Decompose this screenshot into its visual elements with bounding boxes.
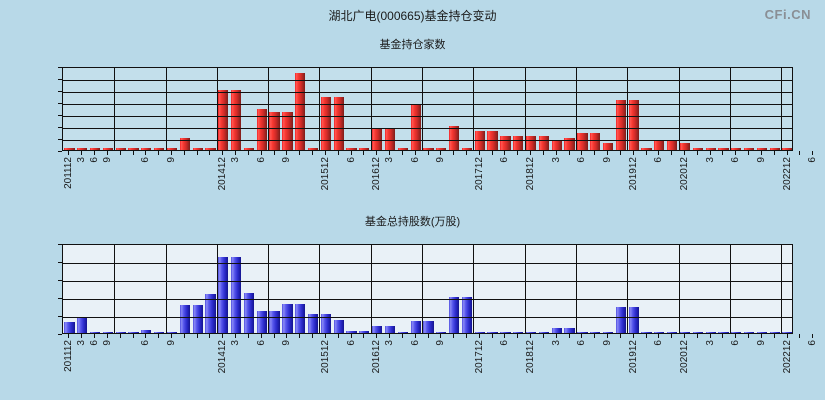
x-axis-tick-mark xyxy=(158,334,159,338)
x-axis-tick-label: 6 xyxy=(730,340,741,346)
x-axis-tick-label: 6 xyxy=(730,157,741,163)
x-axis-tick-mark xyxy=(261,334,262,338)
x-axis-tick-mark xyxy=(466,151,467,155)
bar xyxy=(231,90,241,150)
x-axis-tick-label: 201812 xyxy=(525,340,536,373)
x-axis-tick-label: 9 xyxy=(102,157,113,163)
x-axis-tick-label: 9 xyxy=(166,340,177,346)
bar xyxy=(77,318,87,333)
x-axis-tick-label: 3 xyxy=(384,157,395,163)
x-axis-tick-mark xyxy=(517,151,518,155)
x-axis-tick-mark xyxy=(197,334,198,338)
x-axis-tick-mark xyxy=(697,151,698,155)
bar xyxy=(770,332,780,333)
x-axis-tick-mark xyxy=(479,334,480,338)
x-axis-tick-mark xyxy=(440,151,441,155)
x-axis-tick-mark xyxy=(581,334,582,338)
x-axis-tick-mark xyxy=(812,334,813,338)
gridline-vertical xyxy=(627,68,628,150)
x-axis-tick-mark xyxy=(197,151,198,155)
x-axis-tick-mark xyxy=(543,151,544,155)
x-axis-tick-label: 6 xyxy=(807,157,818,163)
x-axis-tick-label: 6 xyxy=(410,340,421,346)
bar xyxy=(269,112,279,150)
bar xyxy=(757,148,767,150)
bar xyxy=(167,332,177,333)
x-axis-tick-mark xyxy=(184,334,185,338)
bar xyxy=(526,332,536,333)
x-axis-tick-mark xyxy=(402,334,403,338)
plot-area-holders xyxy=(62,67,793,151)
x-axis-tick-mark xyxy=(569,151,570,155)
bar xyxy=(706,332,716,333)
x-axis-tick-mark xyxy=(261,151,262,155)
bar xyxy=(731,332,741,333)
x-axis-tick-label: 3 xyxy=(230,340,241,346)
y-axis-tick-mark xyxy=(58,151,62,152)
x-axis-tick-mark xyxy=(671,151,672,155)
x-axis-tick-mark xyxy=(761,334,762,338)
x-axis-tick-mark xyxy=(453,334,454,338)
bar xyxy=(90,332,100,333)
bar xyxy=(64,148,74,150)
bar xyxy=(128,148,138,150)
bar xyxy=(706,148,716,150)
x-axis-tick-label: 3 xyxy=(76,340,87,346)
bar xyxy=(641,332,651,333)
gridline-vertical xyxy=(319,245,320,333)
x-axis-tick-mark xyxy=(171,334,172,338)
gridline-vertical xyxy=(473,68,474,150)
x-axis-tick-label: 6 xyxy=(499,340,510,346)
x-axis-tick-mark xyxy=(120,151,121,155)
bar xyxy=(218,90,228,150)
bar xyxy=(616,100,626,150)
x-axis-tick-mark xyxy=(453,151,454,155)
gridline-vertical xyxy=(525,68,526,150)
x-axis-tick-mark xyxy=(517,334,518,338)
x-axis-tick-mark xyxy=(171,151,172,155)
x-axis-tick-mark xyxy=(812,151,813,155)
x-axis-tick-mark xyxy=(594,151,595,155)
gridline-horizontal xyxy=(63,299,792,300)
x-axis-tick-mark xyxy=(376,334,377,338)
x-axis-tick-mark xyxy=(492,334,493,338)
gridline-vertical xyxy=(422,68,423,150)
x-axis-tick-mark xyxy=(81,334,82,338)
bar xyxy=(282,112,292,150)
gridline-vertical xyxy=(576,245,577,333)
x-axis-tick-label: 201612 xyxy=(371,157,382,190)
gridline-vertical xyxy=(371,68,372,150)
x-axis-tick-mark xyxy=(620,151,621,155)
bar xyxy=(411,321,421,333)
gridline-vertical xyxy=(268,68,269,150)
bar xyxy=(744,332,754,333)
bar xyxy=(718,332,728,333)
bar xyxy=(680,332,690,333)
bar xyxy=(257,311,267,333)
x-axis-tick-mark xyxy=(158,151,159,155)
page-title: 湖北广电(000665)基金持仓变动 xyxy=(0,7,825,24)
bar xyxy=(282,304,292,333)
gridline-vertical xyxy=(217,245,218,333)
bar xyxy=(782,148,792,150)
x-axis-tick-mark xyxy=(299,151,300,155)
bar xyxy=(64,322,74,333)
x-axis-tick-label: 3 xyxy=(551,157,562,163)
bar xyxy=(193,148,203,150)
bar xyxy=(205,148,215,150)
x-axis-tick-label: 6 xyxy=(653,340,664,346)
x-axis-tick-mark xyxy=(607,151,608,155)
bar xyxy=(500,332,510,333)
bar xyxy=(667,332,677,333)
bar xyxy=(244,148,254,150)
gridline-vertical xyxy=(166,245,167,333)
x-axis-tick-label: 3 xyxy=(551,340,562,346)
x-axis-tick-mark xyxy=(504,151,505,155)
x-axis-tick-label: 3 xyxy=(384,340,395,346)
gridline-vertical xyxy=(114,245,115,333)
x-axis-tick-mark xyxy=(312,334,313,338)
x-axis-tick-mark xyxy=(145,334,146,338)
x-axis-tick-mark xyxy=(710,151,711,155)
x-axis-tick-label: 9 xyxy=(602,157,613,163)
bar xyxy=(398,148,408,150)
bar xyxy=(513,332,523,333)
x-axis-tick-mark xyxy=(376,151,377,155)
x-axis-tick-mark xyxy=(787,334,788,338)
bar xyxy=(475,332,485,333)
x-axis-tick-mark xyxy=(671,334,672,338)
x-axis-tick-mark xyxy=(120,334,121,338)
x-axis-tick-label: 202212 xyxy=(782,340,793,373)
x-axis-tick-mark xyxy=(761,151,762,155)
bar xyxy=(449,126,459,150)
watermark-label: CFi.CN xyxy=(765,7,811,22)
x-axis-tick-mark xyxy=(248,334,249,338)
x-axis-tick-label: 9 xyxy=(281,157,292,163)
x-axis-tick-mark xyxy=(351,334,352,338)
bar xyxy=(346,148,356,150)
bar xyxy=(231,257,241,333)
bar xyxy=(269,311,279,333)
gridline-horizontal xyxy=(63,128,792,129)
bar xyxy=(577,332,587,333)
gridline-vertical xyxy=(166,68,167,150)
x-axis-tick-label: 6 xyxy=(346,157,357,163)
x-axis-tick-label: 201712 xyxy=(474,157,485,190)
x-axis-tick-label: 6 xyxy=(576,340,587,346)
x-axis-tick-mark xyxy=(68,334,69,338)
chart-page: 湖北广电(000665)基金持仓变动 CFi.CN 基金持仓家数 0510152… xyxy=(0,0,825,400)
x-axis-tick-mark xyxy=(658,151,659,155)
x-axis-tick-label: 201412 xyxy=(217,157,228,190)
bar xyxy=(462,148,472,150)
x-axis-tick-label: 9 xyxy=(756,340,767,346)
x-axis-tick-mark xyxy=(556,334,557,338)
bar xyxy=(218,257,228,333)
x-axis-tick-mark xyxy=(68,151,69,155)
bar xyxy=(552,140,562,150)
chart-title-shares: 基金总持股数(万股) xyxy=(0,213,825,229)
bar xyxy=(629,100,639,150)
bar xyxy=(308,148,318,150)
x-axis-tick-label: 201612 xyxy=(371,340,382,373)
x-axis-tick-mark xyxy=(415,334,416,338)
x-axis-tick-label: 3 xyxy=(705,340,716,346)
x-axis-tick-mark xyxy=(479,151,480,155)
gridline-vertical xyxy=(730,68,731,150)
x-axis-tick-label: 201112 xyxy=(63,157,74,189)
gridline-vertical xyxy=(781,245,782,333)
bar xyxy=(564,328,574,333)
x-axis-tick-mark xyxy=(325,334,326,338)
plot-area-shares xyxy=(62,244,793,334)
x-axis-tick-mark xyxy=(235,334,236,338)
gridline-horizontal xyxy=(63,92,792,93)
x-axis-tick-mark xyxy=(274,151,275,155)
gridline-vertical xyxy=(114,68,115,150)
x-axis-tick-mark xyxy=(94,334,95,338)
x-axis-tick-mark xyxy=(145,151,146,155)
x-axis-tick-mark xyxy=(415,151,416,155)
x-axis-tick-mark xyxy=(684,151,685,155)
bar xyxy=(346,331,356,333)
x-axis-tick-mark xyxy=(389,151,390,155)
bar xyxy=(372,326,382,333)
gridline-horizontal xyxy=(63,104,792,105)
x-axis-tick-mark xyxy=(466,334,467,338)
x-axis-tick-mark xyxy=(748,334,749,338)
gridline-vertical xyxy=(473,245,474,333)
bar xyxy=(321,97,331,150)
x-axis-tick-mark xyxy=(607,334,608,338)
x-axis-tick-label: 201512 xyxy=(320,157,331,190)
gridline-vertical xyxy=(319,68,320,150)
x-axis-tick-label: 201712 xyxy=(474,340,485,373)
bar xyxy=(141,330,151,333)
x-axis-tick-mark xyxy=(594,334,595,338)
x-axis-tick-mark xyxy=(363,151,364,155)
x-axis-tick-mark xyxy=(440,334,441,338)
bar xyxy=(590,133,600,150)
gridline-horizontal xyxy=(63,263,792,264)
x-axis-tick-mark xyxy=(620,334,621,338)
x-axis-tick-mark xyxy=(646,151,647,155)
bar xyxy=(436,148,446,150)
bar xyxy=(436,332,446,333)
x-axis-tick-mark xyxy=(184,151,185,155)
x-axis-tick-mark xyxy=(787,151,788,155)
gridline-horizontal xyxy=(63,140,792,141)
gridline-vertical xyxy=(525,245,526,333)
bar xyxy=(782,332,792,333)
x-axis-tick-mark xyxy=(338,151,339,155)
x-axis-tick-label: 3 xyxy=(230,157,241,163)
bar xyxy=(103,148,113,150)
x-axis-tick-mark xyxy=(133,151,134,155)
x-axis-tick-label: 9 xyxy=(602,340,613,346)
bar xyxy=(539,332,549,333)
x-axis-tick-label: 6 xyxy=(89,340,100,346)
x-axis-tick-label: 6 xyxy=(499,157,510,163)
x-axis-tick-mark xyxy=(697,334,698,338)
bar xyxy=(718,148,728,150)
gridline-horizontal xyxy=(63,281,792,282)
bar xyxy=(77,148,87,150)
bar xyxy=(334,97,344,150)
x-axis-tick-mark xyxy=(133,334,134,338)
bar xyxy=(141,148,151,150)
bar xyxy=(616,307,626,333)
gridline-vertical xyxy=(679,245,680,333)
x-axis-tick-mark xyxy=(107,151,108,155)
x-axis-tick-mark xyxy=(222,334,223,338)
bar xyxy=(757,332,767,333)
x-axis-tick-label: 6 xyxy=(140,157,151,163)
x-axis-tick-label: 202012 xyxy=(679,157,690,190)
bar xyxy=(398,332,408,333)
bar xyxy=(423,321,433,333)
x-axis-tick-mark xyxy=(658,334,659,338)
x-axis-tick-label: 9 xyxy=(435,157,446,163)
x-axis-tick-label: 6 xyxy=(410,157,421,163)
y-axis-tick-mark xyxy=(58,334,62,335)
bar xyxy=(590,332,600,333)
bar xyxy=(116,148,126,150)
bar xyxy=(487,332,497,333)
x-axis-tick-mark xyxy=(543,334,544,338)
x-axis-tick-label: 6 xyxy=(346,340,357,346)
x-axis-tick-mark xyxy=(286,151,287,155)
gridline-horizontal xyxy=(63,317,792,318)
bar xyxy=(334,320,344,333)
x-axis-tick-mark xyxy=(633,334,634,338)
x-axis-tick-mark xyxy=(735,151,736,155)
x-axis-tick-label: 202212 xyxy=(782,157,793,190)
x-axis-tick-label: 9 xyxy=(435,340,446,346)
x-axis-tick-mark xyxy=(325,151,326,155)
bar xyxy=(116,332,126,333)
bar xyxy=(154,332,164,333)
chart-panel-holders: 基金持仓家数 05101520253035 201112369692014123… xyxy=(0,36,825,196)
x-axis-tick-mark xyxy=(774,151,775,155)
x-axis-tick-mark xyxy=(209,151,210,155)
gridline-vertical xyxy=(268,245,269,333)
x-axis-tick-label: 6 xyxy=(140,340,151,346)
x-axis-tick-mark xyxy=(556,151,557,155)
bar xyxy=(462,297,472,333)
bar xyxy=(90,148,100,150)
bar xyxy=(513,136,523,150)
bar xyxy=(526,136,536,150)
x-axis-tick-mark xyxy=(633,151,634,155)
x-axis-tick-mark xyxy=(286,334,287,338)
x-axis-tick-mark xyxy=(222,151,223,155)
bar xyxy=(693,332,703,333)
bar xyxy=(500,136,510,150)
x-axis-tick-mark xyxy=(581,151,582,155)
x-axis-tick-label: 6 xyxy=(89,157,100,163)
bar xyxy=(539,136,549,150)
x-axis-tick-mark xyxy=(504,334,505,338)
x-axis-tick-label: 6 xyxy=(576,157,587,163)
x-axis-tick-mark xyxy=(351,151,352,155)
gridline-vertical xyxy=(422,245,423,333)
x-axis-tick-label: 9 xyxy=(281,340,292,346)
x-axis-tick-label: 6 xyxy=(256,340,267,346)
x-axis-tick-label: 6 xyxy=(256,157,267,163)
bar xyxy=(193,305,203,333)
bar xyxy=(744,148,754,150)
chart-title-holders: 基金持仓家数 xyxy=(0,36,825,52)
bar xyxy=(449,297,459,333)
bar xyxy=(629,307,639,333)
x-axis-tick-mark xyxy=(684,334,685,338)
bar xyxy=(167,148,177,150)
x-axis-tick-label: 9 xyxy=(166,157,177,163)
x-axis-tick-label: 3 xyxy=(76,157,87,163)
bar xyxy=(552,328,562,333)
x-axis-tick-mark xyxy=(107,334,108,338)
x-axis-tick-mark xyxy=(209,334,210,338)
x-axis-tick-label: 201812 xyxy=(525,157,536,190)
bar xyxy=(654,140,664,150)
x-axis-tick-mark xyxy=(248,151,249,155)
bar xyxy=(423,148,433,150)
x-axis-tick-label: 6 xyxy=(653,157,664,163)
x-axis-tick-mark xyxy=(530,151,531,155)
x-axis-tick-mark xyxy=(428,151,429,155)
gridline-horizontal xyxy=(63,116,792,117)
gridline-vertical xyxy=(679,68,680,150)
x-axis-tick-mark xyxy=(722,334,723,338)
x-axis-tick-label: 201912 xyxy=(628,340,639,373)
x-axis-tick-label: 201912 xyxy=(628,157,639,190)
gridline-vertical xyxy=(217,68,218,150)
bar xyxy=(667,140,677,150)
x-axis-tick-mark xyxy=(774,334,775,338)
x-axis-tick-mark xyxy=(428,334,429,338)
bar xyxy=(603,143,613,150)
gridline-horizontal xyxy=(63,80,792,81)
x-axis-tick-mark xyxy=(646,334,647,338)
bar xyxy=(295,304,305,333)
x-axis-tick-mark xyxy=(338,334,339,338)
chart-panel-shares: 基金总持股数(万股) 05001000150020002500 20111236… xyxy=(0,213,825,398)
bar xyxy=(577,133,587,150)
bar xyxy=(770,148,780,150)
bar xyxy=(680,143,690,150)
x-axis-tick-mark xyxy=(299,334,300,338)
x-axis-tick-mark xyxy=(710,334,711,338)
bar xyxy=(654,332,664,333)
x-axis-tick-mark xyxy=(530,334,531,338)
x-axis-tick-mark xyxy=(81,151,82,155)
x-axis-tick-label: 201412 xyxy=(217,340,228,373)
bar xyxy=(603,332,613,333)
x-axis-tick-mark xyxy=(748,151,749,155)
bar xyxy=(295,73,305,150)
x-axis-tick-label: 201112 xyxy=(63,340,74,372)
bar xyxy=(154,148,164,150)
x-axis-tick-label: 9 xyxy=(756,157,767,163)
x-axis-tick-mark xyxy=(274,334,275,338)
x-axis-tick-mark xyxy=(363,334,364,338)
bar xyxy=(693,148,703,150)
